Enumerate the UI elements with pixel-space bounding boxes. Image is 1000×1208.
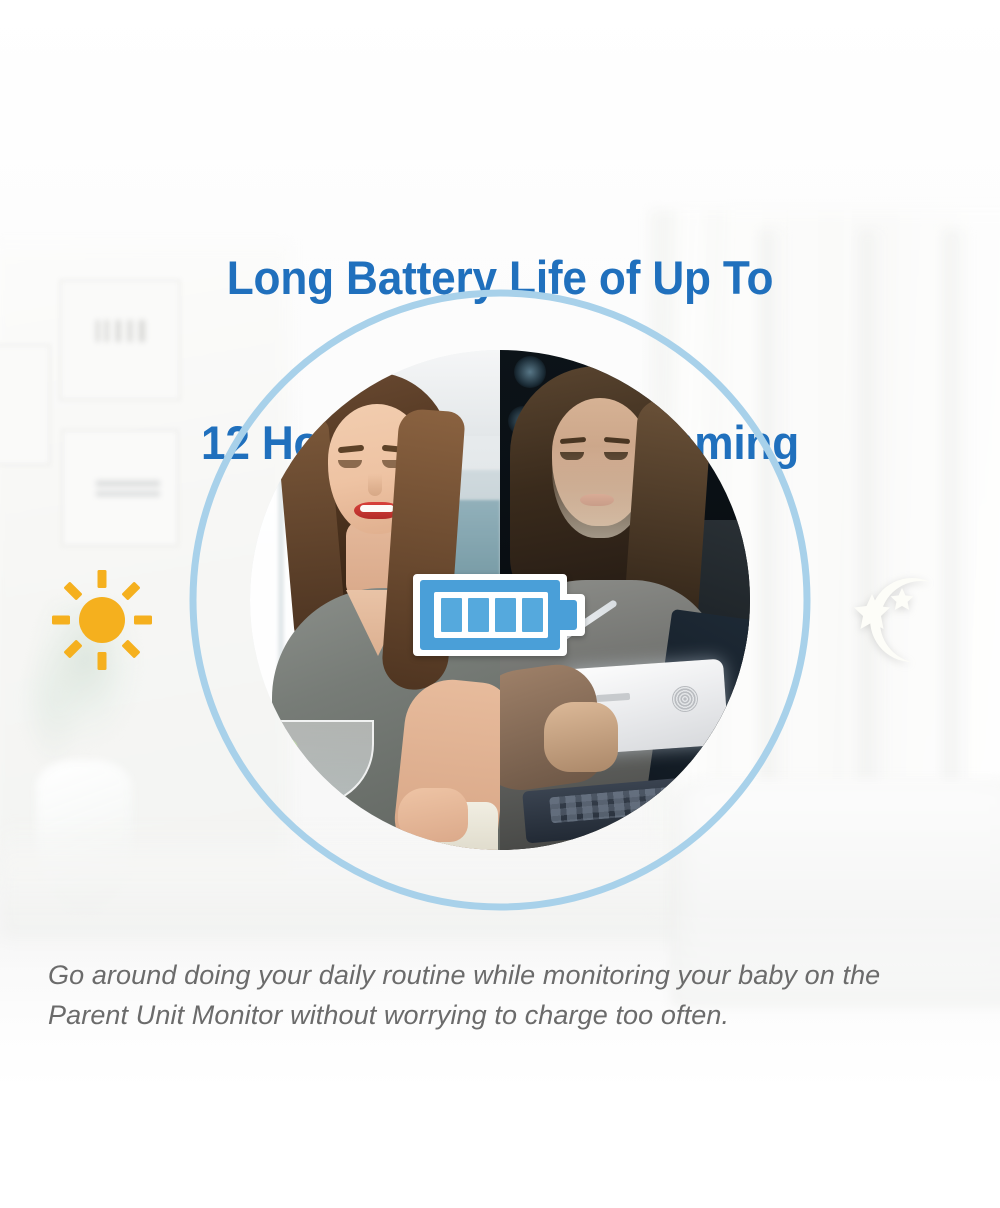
moon-icon bbox=[846, 566, 954, 674]
sun-icon bbox=[50, 568, 154, 672]
star-icon bbox=[891, 588, 914, 610]
caption: Go around doing your daily routine while… bbox=[48, 955, 978, 1035]
battery-full-icon bbox=[413, 566, 589, 664]
product-feature-banner: Long Battery Life of Up To 12 Hours of V… bbox=[0, 0, 1000, 1208]
background-bottom-fade bbox=[0, 908, 1000, 1208]
day-woman-nose bbox=[368, 474, 382, 496]
night-bokeh-light bbox=[650, 360, 670, 380]
day-woman-teeth bbox=[360, 505, 394, 512]
day-woman-hand bbox=[398, 788, 468, 842]
caption-line-2: Parent Unit Monitor without worrying to … bbox=[48, 995, 978, 1035]
caption-line-1: Go around doing your daily routine while… bbox=[48, 955, 978, 995]
night-woman-hand bbox=[544, 702, 618, 772]
night-bokeh-light bbox=[514, 356, 546, 388]
